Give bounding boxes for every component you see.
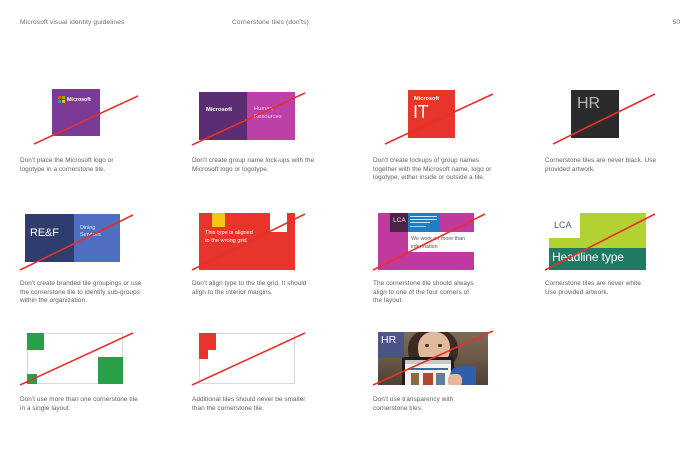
example-black-tile: HR Cornerstone tiles are never black. Us… (545, 89, 695, 147)
caption: Additional tiles should never be smaller… (192, 396, 360, 413)
red-smaller-tile (199, 350, 208, 359)
ref-tile: RE&F (25, 214, 74, 262)
group-name-label: Human Resources (254, 105, 282, 121)
red-cornerstone-tile: Microsoft IT (408, 90, 455, 138)
group-abbreviation-label: RE&F (30, 227, 59, 239)
caption: Cornerstone tiles are never white. Use p… (545, 280, 695, 297)
example-multiple-cornerstone-tiles: Don't use more than one cornerstone tile… (20, 330, 185, 387)
caption: Don't use more than one cornerstone tile… (20, 396, 188, 413)
caption: The cornerstone tile should always align… (373, 280, 535, 306)
group-abbreviation-label: HR (381, 334, 396, 346)
example-transparency-with-tiles: HR Don't use transparency with cornersto… (373, 330, 538, 387)
artwork: LCA We work on more than information (373, 212, 538, 272)
artwork: Microsoft Human Resources (192, 89, 357, 147)
blue-info-block (408, 213, 440, 232)
green-tile-top-left (27, 333, 44, 350)
artwork: Microsoft IT (373, 89, 538, 147)
example-smaller-additional-tiles: Additional tiles should never be smaller… (192, 330, 357, 387)
caption: Don't align type to the tile grid. It sh… (192, 280, 360, 297)
notch-cutout (270, 213, 287, 232)
caption: Don't use transparency with cornerstone … (373, 396, 535, 413)
prohibition-slash (545, 89, 695, 147)
header-document-title: Microsoft visual identity guidelines (20, 19, 124, 26)
teal-headline-band: Headline type (549, 248, 646, 270)
microsoft-wordmark: Microsoft (206, 107, 232, 113)
sub-group-label: Dining Services (80, 225, 101, 240)
lca-tile: LCA (390, 213, 408, 232)
example-group-name-with-ms-name: Microsoft IT Don't create lockups of gro… (373, 89, 538, 147)
caption: Don't create group name lock-ups with th… (192, 157, 360, 174)
microsoft-wordmark: Microsoft (67, 97, 91, 103)
microsoft-logo-squares-icon (58, 96, 65, 103)
artwork: LCA Headline type (545, 212, 695, 272)
headline-label: Headline type (552, 250, 624, 264)
caption: Don't create lockups of group names toge… (373, 157, 535, 183)
black-cornerstone-tile: HR (571, 90, 619, 138)
group-abbreviation-label: LCA (393, 217, 406, 224)
white-text-panel: We work on more than information (408, 232, 474, 252)
caption: Don't create branded tile groupings or u… (20, 280, 188, 306)
artwork (20, 330, 185, 387)
group-abbreviation-label: HR (577, 95, 600, 113)
page-header: Microsoft visual identity guidelines Cor… (0, 19, 700, 33)
caption: Don't place the Microsoft logo or logoty… (20, 157, 180, 174)
example-microsoft-logo-in-tile: Microsoft Don't place the Microsoft logo… (20, 89, 185, 147)
purple-cornerstone-tile: Microsoft (52, 89, 100, 136)
page-number: 50 (673, 19, 680, 26)
artwork: HR (545, 89, 695, 147)
sub-group-tile: Dining Services (74, 214, 120, 262)
example-branded-tile-groupings: RE&F Dining Services Don't create brande… (20, 212, 185, 272)
microsoft-logo: Microsoft (58, 96, 91, 103)
artwork: RE&F Dining Services (20, 212, 185, 272)
example-white-tile: LCA Headline type Cornerstone tiles are … (545, 212, 695, 272)
prohibition-slash (20, 89, 185, 147)
white-lca-tile: LCA (549, 213, 580, 238)
group-name-tile-half: Human Resources (247, 92, 295, 140)
red-cornerstone-tile (199, 333, 216, 350)
group-abbreviation-label: LCA (554, 220, 572, 230)
body-copy: We work on more than information (411, 236, 465, 251)
header-section-title: Cornerstone tiles (don'ts) (232, 19, 309, 26)
transparent-hr-tile: HR (378, 332, 404, 358)
prohibition-slash (373, 89, 538, 147)
yellow-accent-stripe (212, 213, 225, 227)
example-type-aligned-to-tile-grid: This type is aligned to the wrong grid. … (192, 212, 357, 272)
photograph: HR (378, 332, 488, 385)
microsoft-tile-half: Microsoft (199, 92, 247, 140)
artwork: Microsoft (20, 89, 185, 147)
artwork: HR (373, 330, 538, 387)
green-tile-bottom-right (98, 357, 123, 384)
guideline-page: Microsoft visual identity guidelines Cor… (0, 0, 700, 452)
artwork (192, 330, 357, 387)
group-abbreviation-label: IT (413, 102, 428, 122)
artwork: This type is aligned to the wrong grid. (192, 212, 357, 272)
green-tile-bottom-left (27, 374, 37, 384)
caption: Cornerstone tiles are never black. Use p… (545, 157, 695, 174)
misaligned-type-label: This type is aligned to the wrong grid. (205, 229, 253, 245)
example-tile-not-at-corner: LCA We work on more than information The… (373, 212, 538, 272)
example-group-name-lockup: Microsoft Human Resources Don't create g… (192, 89, 357, 147)
